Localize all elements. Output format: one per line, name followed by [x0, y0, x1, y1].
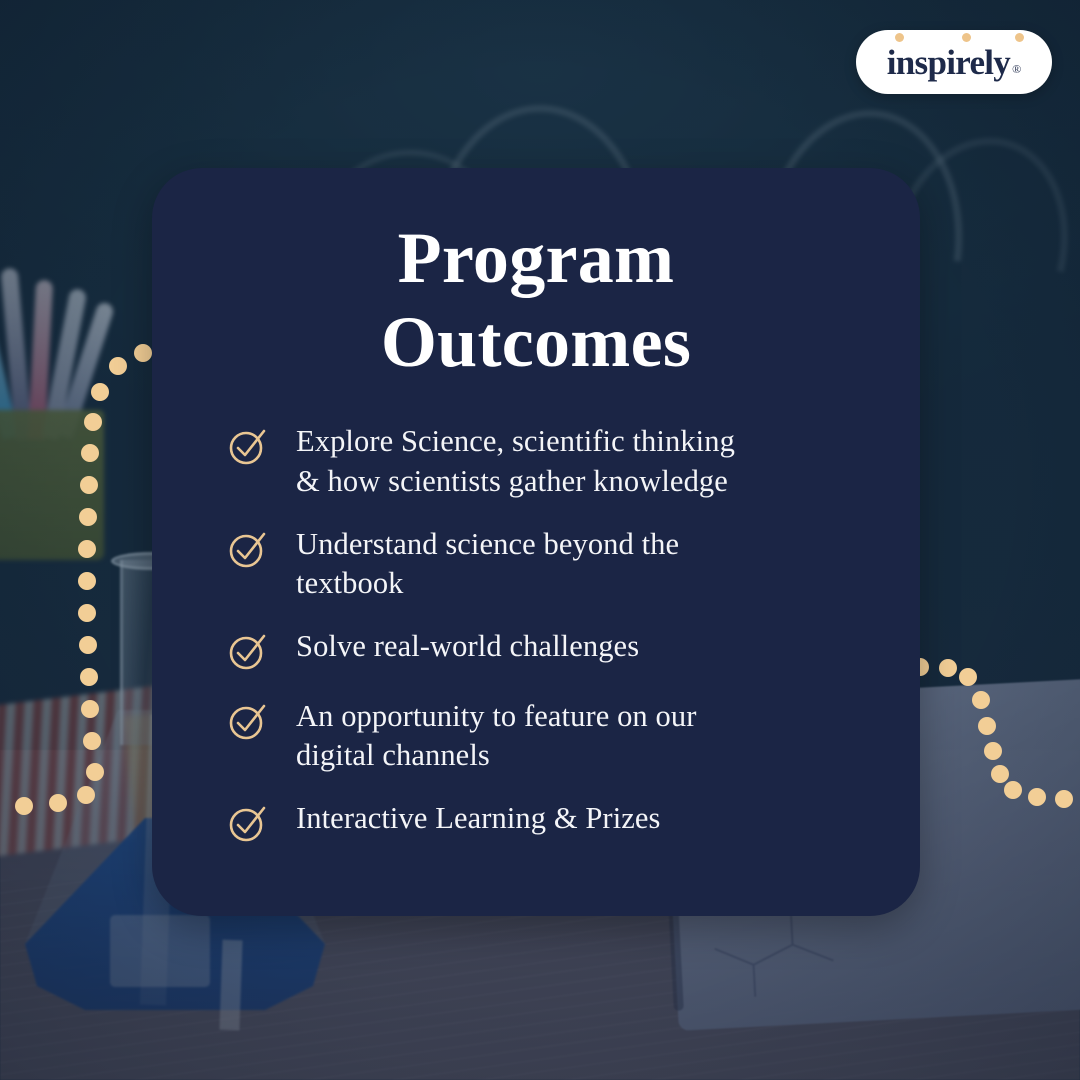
check-circle-icon: [226, 527, 270, 571]
check-circle-icon: [226, 801, 270, 845]
check-circle-icon: [226, 629, 270, 673]
logo-dot-icon: [895, 33, 904, 42]
title-line-1: Program: [222, 216, 850, 300]
outcome-text: An opportunity to feature on our digital…: [296, 697, 766, 775]
outcomes-list: Explore Science, scientific thinking & h…: [152, 422, 920, 844]
title-line-2: Outcomes: [222, 300, 850, 384]
brand-logo[interactable]: inspirely ®: [856, 30, 1052, 94]
poster-canvas: CH₃ N O C—N CH₃: [0, 0, 1080, 1080]
program-outcomes-card: Program Outcomes Explore Science, scient…: [152, 168, 920, 916]
registered-trademark-icon: ®: [1012, 62, 1021, 77]
outcome-text: Solve real-world challenges: [296, 627, 639, 666]
list-item: Explore Science, scientific thinking & h…: [226, 422, 868, 500]
logo-dot-icon: [1015, 33, 1024, 42]
check-circle-icon: [226, 699, 270, 743]
list-item: An opportunity to feature on our digital…: [226, 697, 868, 775]
list-item: Interactive Learning & Prizes: [226, 799, 868, 845]
page-title: Program Outcomes: [152, 216, 920, 384]
logo-wordmark-wrap: inspirely ®: [887, 45, 1022, 80]
outcome-text: Interactive Learning & Prizes: [296, 799, 661, 838]
outcome-text: Explore Science, scientific thinking & h…: [296, 422, 766, 500]
list-item: Understand science beyond the textbook: [226, 525, 868, 603]
logo-dot-icon: [962, 33, 971, 42]
outcome-text: Understand science beyond the textbook: [296, 525, 766, 603]
list-item: Solve real-world challenges: [226, 627, 868, 673]
logo-text: inspirely: [887, 45, 1010, 80]
check-circle-icon: [226, 424, 270, 468]
